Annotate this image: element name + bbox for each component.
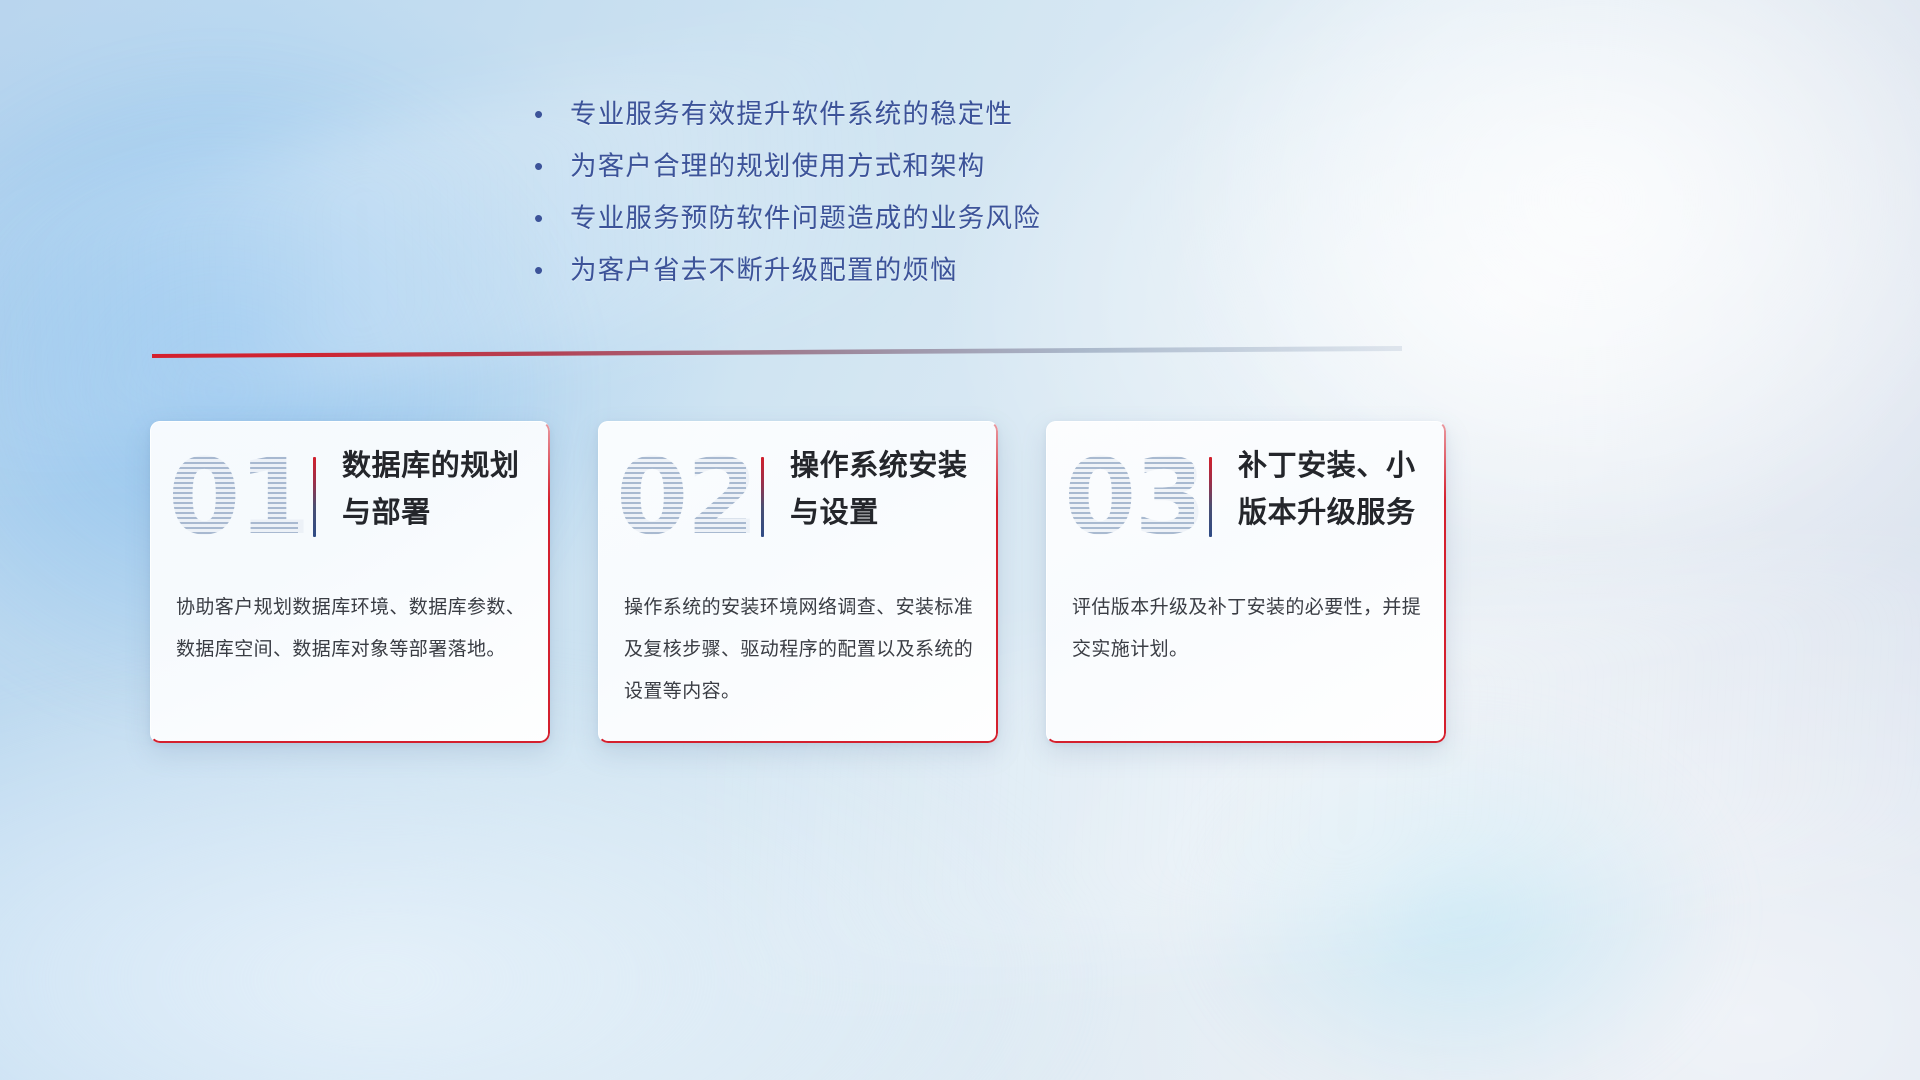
bullet-marker-icon: •: [534, 153, 570, 179]
background-glow-cyan: [1180, 700, 1740, 1080]
slide-canvas: • 专业服务有效提升软件系统的稳定性 • 为客户合理的规划使用方式和架构 • 专…: [0, 0, 1920, 1080]
bullet-text: 专业服务预防软件问题造成的业务风险: [570, 196, 1041, 235]
card-header: 02 02 操作系统安装与设置: [598, 421, 998, 571]
card-body-text: 协助客户规划数据库环境、数据库参数、数据库空间、数据库对象等部署落地。: [176, 587, 528, 671]
section-divider: [152, 344, 1402, 364]
list-item: • 为客户省去不断升级配置的烦恼: [534, 248, 1174, 300]
bullet-text: 专业服务有效提升软件系统的稳定性: [570, 92, 1013, 131]
list-item: • 为客户合理的规划使用方式和架构: [534, 144, 1174, 196]
card-header: 03 03 补丁安装、小版本升级服务: [1046, 421, 1446, 571]
card-title: 数据库的规划与部署: [342, 443, 542, 537]
card-body-text: 操作系统的安装环境网络调查、安装标准及复核步骤、驱动程序的配置以及系统的设置等内…: [624, 587, 976, 713]
card-title: 补丁安装、小版本升级服务: [1238, 443, 1438, 537]
benefits-bullet-list: • 专业服务有效提升软件系统的稳定性 • 为客户合理的规划使用方式和架构 • 专…: [534, 92, 1174, 300]
card-header: 01 01 数据库的规划与部署: [150, 421, 550, 571]
list-item: • 专业服务预防软件问题造成的业务风险: [534, 196, 1174, 248]
bullet-text: 为客户省去不断升级配置的烦恼: [570, 248, 958, 287]
list-item: • 专业服务有效提升软件系统的稳定性: [534, 92, 1174, 144]
card-title-rule: [761, 457, 764, 537]
bullet-text: 为客户合理的规划使用方式和架构: [570, 144, 986, 183]
card-title: 操作系统安装与设置: [790, 443, 990, 537]
bullet-marker-icon: •: [534, 257, 570, 283]
bullet-marker-icon: •: [534, 205, 570, 231]
card-title-rule: [1209, 457, 1212, 537]
card-number-watermark: 01: [168, 437, 298, 557]
card-number-watermark: 02: [616, 437, 746, 557]
service-card-02[interactable]: 02 02 操作系统安装与设置 操作系统的安装环境网络调查、安装标准及复核步骤、…: [598, 421, 998, 743]
bullet-marker-icon: •: [534, 101, 570, 127]
card-body-text: 评估版本升级及补丁安装的必要性，并提交实施计划。: [1072, 587, 1424, 671]
service-card-03[interactable]: 03 03 补丁安装、小版本升级服务 评估版本升级及补丁安装的必要性，并提交实施…: [1046, 421, 1446, 743]
card-number-watermark: 03: [1064, 437, 1194, 557]
card-title-rule: [313, 457, 316, 537]
service-card-list: 01 01 数据库的规划与部署 协助客户规划数据库环境、数据库参数、数据库空间、…: [150, 421, 1614, 743]
service-card-01[interactable]: 01 01 数据库的规划与部署 协助客户规划数据库环境、数据库参数、数据库空间、…: [150, 421, 550, 743]
